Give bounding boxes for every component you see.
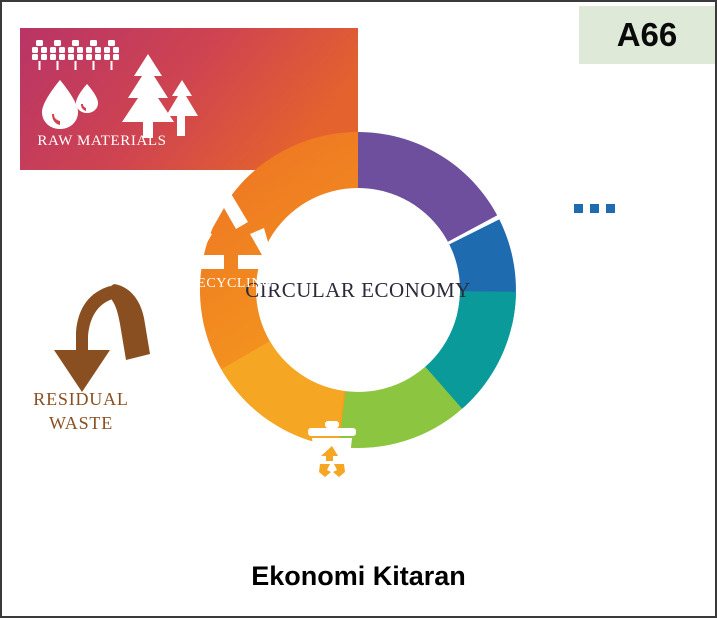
segment-production-label-line2: REMANUFACTURING <box>530 242 671 257</box>
segment-consumption-label-line2: reuse, repair <box>439 490 506 505</box>
caption-text: Ekonomi Kitaran <box>251 561 466 591</box>
raw-materials-label: RAW MATERIALS <box>37 133 166 149</box>
residual-waste-label-line2: WASTE <box>49 413 113 433</box>
segment-distribution-label: DISTRIBUTION <box>537 379 642 394</box>
recycle-bin-icon <box>308 421 356 484</box>
center-label: CIRCULAR ECONOMY <box>245 278 471 302</box>
segment-design-label: DESIGN <box>462 142 518 157</box>
circular-economy-infographic: RAW MATERIALS <box>0 0 717 618</box>
curved-down-arrow-icon <box>54 284 150 392</box>
residual-waste-label-line1: RESIDUAL <box>33 389 128 409</box>
segment-consumption-label-line1: Consumption, use, <box>422 472 523 487</box>
shopping-cart-icon <box>553 327 616 380</box>
hammer-wrench-icon <box>434 419 498 474</box>
a66-badge-label: A66 <box>617 16 678 54</box>
factory-icon <box>568 188 622 226</box>
segment-recycling-label: RECYCLING <box>187 276 273 291</box>
diagram-caption: Ekonomi Kitaran <box>2 561 715 592</box>
diagram-canvas: RAW MATERIALS <box>2 2 715 616</box>
residual-waste-group: RESIDUAL WASTE <box>33 284 150 433</box>
segment-production-label-line1: PRODUCTION, <box>553 226 648 241</box>
a66-badge: A66 <box>579 6 715 64</box>
segment-collection-label: COLLECTION <box>285 485 379 500</box>
